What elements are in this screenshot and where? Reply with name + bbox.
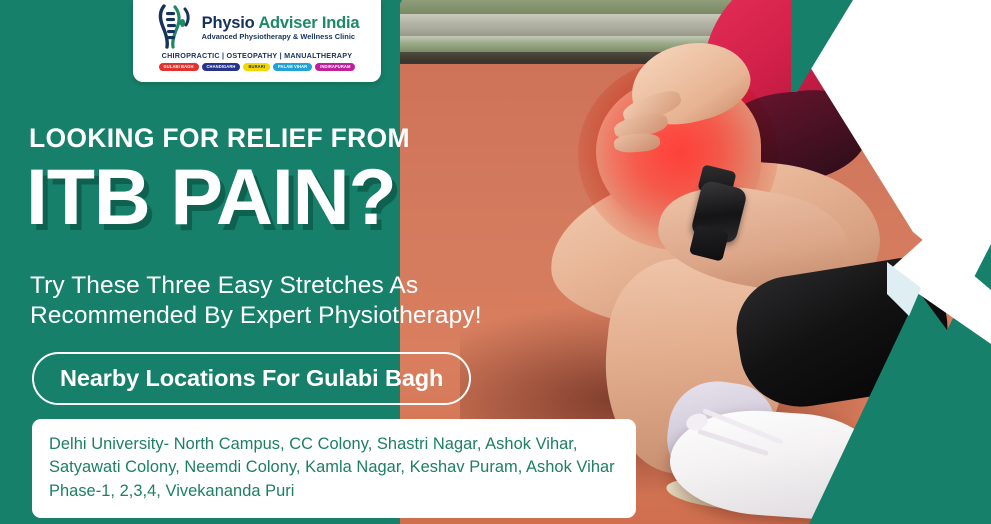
logo-row: Physio Adviser India Advanced Physiother…: [155, 4, 360, 48]
logo-branch-badges: GULABI BAGHCHANDIGARHBURARIPALAM VIHARIN…: [159, 63, 356, 71]
hero-kicker: LOOKING FOR RELIEF FROM: [29, 123, 410, 154]
logo-tagline: Advanced Physiotherapy & Wellness Clinic: [202, 33, 360, 40]
spine-icon: [155, 3, 199, 49]
branch-badge-0[interactable]: GULABI BAGH: [159, 63, 199, 71]
logo-wordmark: Physio Adviser India Advanced Physiother…: [202, 12, 360, 41]
locations-list-box: Delhi University- North Campus, CC Colon…: [32, 419, 636, 518]
poster-canvas: Physio Adviser India Advanced Physiother…: [0, 0, 991, 524]
branch-badge-2[interactable]: BURARI: [243, 63, 270, 71]
nearby-locations-pill[interactable]: Nearby Locations For Gulabi Bagh: [32, 352, 471, 405]
branch-badge-1[interactable]: CHANDIGARH: [202, 63, 241, 71]
hero-subhead-line2: Recommended By Expert Physiotherapy!: [30, 301, 482, 331]
hero-headline: ITB PAIN?: [26, 157, 396, 236]
branch-badge-3[interactable]: PALAM VIHAR: [273, 63, 312, 71]
zigzag-decoration: [791, 0, 991, 524]
hero-subhead-line1: Try These Three Easy Stretches As: [30, 271, 482, 301]
hero-subhead: Try These Three Easy Stretches As Recomm…: [30, 271, 482, 332]
logo-title-part1: Physio: [202, 14, 259, 32]
logo-title-part2: Adviser India: [258, 14, 359, 32]
logo-title: Physio Adviser India: [202, 15, 360, 32]
branch-badge-4[interactable]: INDIRAPURAM: [315, 63, 355, 71]
logo-card[interactable]: Physio Adviser India Advanced Physiother…: [133, 0, 381, 82]
logo-services-line: CHIROPRACTIC | OSTEOPATHY | MANUALTHERAP…: [162, 51, 353, 60]
